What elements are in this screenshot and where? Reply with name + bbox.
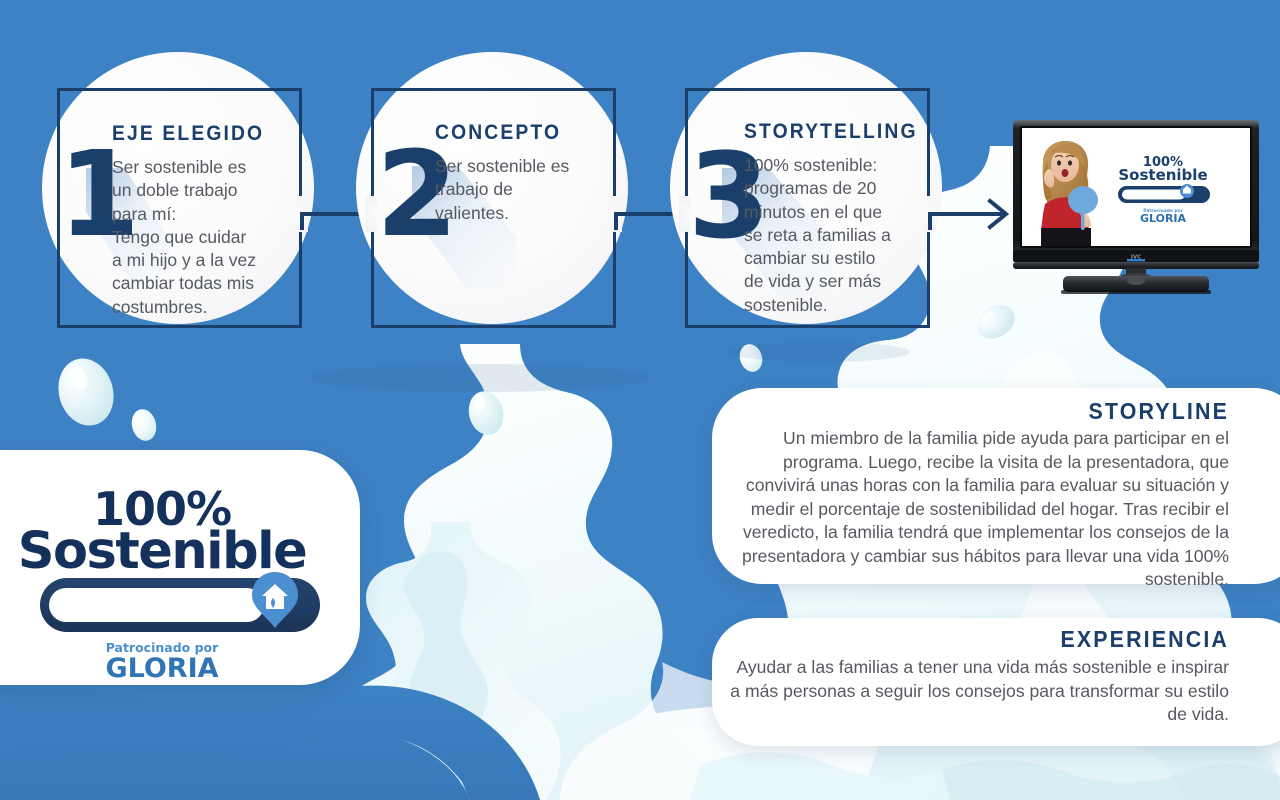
step-title: STORYTELLING [744,120,918,144]
experiencia-body: Ayudar a las familias a tener una vida m… [724,656,1229,727]
storyline-body: Un miembro de la familia pide ayuda para… [724,427,1229,592]
step-body: 100% sostenible: programas de 20 minutos… [744,154,930,317]
logo-word: Sostenible [18,522,306,581]
logo-card: 100% Sostenible Patrocinado por GLORIA [0,450,360,685]
svg-text:GLORIA: GLORIA [1140,212,1187,225]
television-mockup: 100% Sostenible Patrocinado por GLORIA J… [1005,118,1267,298]
sponsor-brand: GLORIA [105,653,218,684]
step-title: CONCEPTO [435,121,561,145]
milk-drop-icon [51,352,122,432]
infographic-canvas: 1 EJE ELEGIDO Ser sostenible es un doble… [0,0,1280,800]
step-body: Ser sostenible es trabajo de valientes. [435,155,615,225]
milk-drop-icon [128,407,159,444]
step-body: Ser sostenible es un doble trabajo para … [112,156,292,319]
progress-bar-fill [49,588,264,622]
step-title: EJE ELEGIDO [112,122,264,146]
arrow-right-icon [928,196,1014,232]
svg-text:Sostenible: Sostenible [1118,166,1207,184]
storyline-title: STORYLINE [852,398,1229,425]
experiencia-title: EXPERIENCIA [852,626,1229,653]
sostenible-logo: 100% Sostenible Patrocinado por GLORIA [0,450,360,685]
